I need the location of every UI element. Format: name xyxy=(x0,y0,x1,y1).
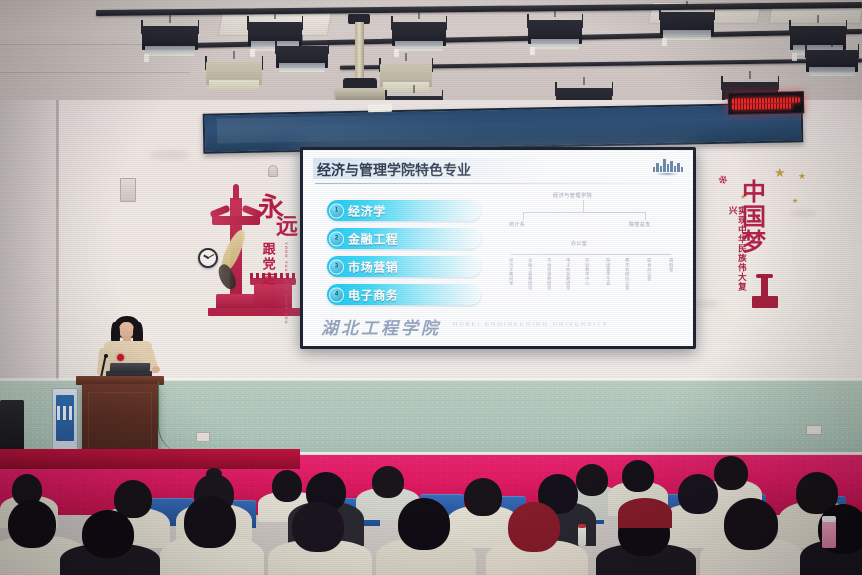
stage-light-7 xyxy=(206,58,262,90)
banner-sheen xyxy=(217,113,480,143)
presenter-badge xyxy=(117,354,124,361)
org-leaf-3: 市场营销教研室 xyxy=(547,258,552,290)
bullet-label-1: 经济学 xyxy=(348,202,386,219)
poster-bars-graphic xyxy=(57,406,72,420)
bullet-label-3: 市场营销 xyxy=(348,258,398,275)
projector-drop-pole xyxy=(355,22,364,80)
bullet-number-4: 4 xyxy=(329,287,344,302)
monument-finial xyxy=(233,184,239,200)
org-root-node: 经济与管理学院 xyxy=(553,192,592,199)
org-line-h2 xyxy=(511,254,671,255)
org-node-l2-1: 统计系 xyxy=(509,221,525,228)
wall-outlet-2[interactable] xyxy=(806,425,822,435)
slide-title: 经济与管理学院特色专业 xyxy=(317,160,471,180)
org-line-root-down xyxy=(583,200,584,212)
tower-shaft xyxy=(761,276,768,298)
org-leaf-6: 院团委学生会 xyxy=(606,258,611,286)
org-node-l2-2: 院党总支 xyxy=(629,221,651,228)
presenter-hand xyxy=(152,366,160,373)
org-leaf-8: 综合办公室 xyxy=(647,258,652,281)
stage-light-8 xyxy=(380,60,432,92)
laptop-screen xyxy=(110,363,151,373)
stage-light-3 xyxy=(392,18,446,51)
audience-head xyxy=(678,474,718,514)
stage-light-5 xyxy=(660,8,714,40)
wall-left-pillar xyxy=(0,100,58,400)
star-icon-4: ★ xyxy=(792,198,798,205)
gate-platform xyxy=(244,308,300,316)
slide-watermark-faint: HUBEI ENGINEERING UNIVERSITY xyxy=(453,322,609,328)
org-leaf-9: 资料室 xyxy=(669,258,674,272)
audience-head xyxy=(622,460,654,492)
org-leaf-5: 实验教学中心 xyxy=(585,258,590,286)
logo-wave xyxy=(654,173,680,176)
pink-tumbler[interactable] xyxy=(822,520,836,548)
slide-bullet-3: 3 市场营销 xyxy=(327,256,481,277)
wall-art-yongyuan-gendangzou: 永 远 跟党走 YONG YUAN GEN DANG ZOU xyxy=(200,176,308,332)
org-line-h1 xyxy=(523,212,645,213)
pink-tumbler-lid xyxy=(822,516,836,522)
org-line-l2b xyxy=(645,212,646,220)
projection-screen-frame: 经济与管理学院特色专业 1 经济学 2 金融工程 3 市场营销 xyxy=(300,147,696,349)
stage-light-1 xyxy=(142,22,198,56)
audience-head xyxy=(724,498,778,550)
bullet-number-2: 2 xyxy=(329,231,344,246)
slide-watermark-university: 湖北工程学院 xyxy=(321,314,441,339)
wall-art-headline-zhongguomeng: 中国梦 xyxy=(742,180,782,256)
bullet-label-4: 电子商务 xyxy=(348,286,398,303)
org-line-l2a xyxy=(523,212,524,220)
bullet-label-2: 金融工程 xyxy=(348,230,398,247)
tower-cap xyxy=(756,274,773,278)
star-icon-1: ★ xyxy=(774,166,786,179)
wall-mark-1 xyxy=(150,150,190,160)
bullet-number-3: 3 xyxy=(329,259,344,274)
projected-slide: 经济与管理学院特色专业 1 经济学 2 金融工程 3 市场营销 xyxy=(303,150,693,346)
student-audience xyxy=(0,440,862,575)
slide-title-underline xyxy=(315,183,681,184)
audience-head xyxy=(8,500,56,548)
dove-icon: ❄ xyxy=(716,173,729,188)
wall-art-zhongguomeng: ❄ ★ ★ ★ ★ 中国梦 实现中华民族伟大复兴 xyxy=(716,164,826,314)
org-leaf-7: 教学科研办公室 xyxy=(625,258,630,290)
org-node-l3-1: 办公室 xyxy=(571,240,587,247)
wall-art-line-gendangzou: 跟党走 xyxy=(261,242,275,287)
wall-art-subline: 实现中华民族伟大复兴 xyxy=(728,206,746,294)
slide-org-chart: 经济与管理学院 统计系 院党总支 办公室 经济学教研室 金融工程教研室 市场营销… xyxy=(501,192,691,322)
tower-graphic xyxy=(752,274,778,308)
audience-head xyxy=(714,456,748,490)
banner-tape-label xyxy=(368,104,392,112)
led-scrolling-sign xyxy=(728,91,804,114)
wall-pillar-edge xyxy=(56,100,59,400)
slide-bullet-2: 2 金融工程 xyxy=(327,228,481,249)
monument-crossbar xyxy=(212,216,260,225)
ceiling-seam-2 xyxy=(0,72,190,73)
stage-light-9 xyxy=(276,42,328,72)
audience-head xyxy=(508,502,560,552)
audience-head xyxy=(372,466,404,498)
bullet-number-1: 1 xyxy=(329,203,344,218)
bottle-cap xyxy=(578,524,586,528)
city-skyline-logo xyxy=(653,158,683,172)
monument-base xyxy=(216,294,256,308)
wall-control-box[interactable] xyxy=(120,178,136,202)
audience-head xyxy=(398,498,450,550)
org-leaf-1: 经济学教研室 xyxy=(509,258,514,286)
wall-art-char-yuan: 远 xyxy=(276,216,298,238)
lecture-hall-photo: 永 远 跟党走 YONG YUAN GEN DANG ZOU ❄ ★ ★ ★ ★… xyxy=(0,0,862,575)
led-text-line-2 xyxy=(732,103,792,109)
audience-head xyxy=(292,502,344,552)
org-leaf-2: 金融工程教研室 xyxy=(528,258,533,290)
slide-bullet-4: 4 电子商务 xyxy=(327,284,481,305)
audience-head xyxy=(82,510,134,558)
slide-bullet-1: 1 经济学 xyxy=(327,200,481,221)
audience-head xyxy=(184,496,236,548)
stage-light-4 xyxy=(528,16,582,49)
red-cap-student xyxy=(618,498,672,528)
water-bottle[interactable] xyxy=(578,526,586,546)
audience-head xyxy=(272,470,302,502)
stage-light-13 xyxy=(806,46,858,76)
led-text-line-1 xyxy=(732,97,800,103)
org-leaf-4: 电子商务教研室 xyxy=(566,258,571,290)
microphone-head xyxy=(104,354,108,358)
star-icon-2: ★ xyxy=(798,172,806,181)
audience-hair-bun xyxy=(206,468,222,480)
audience-head xyxy=(464,478,502,516)
audience-head xyxy=(576,464,608,496)
wall-art-pinyin: YONG YUAN GEN DANG ZOU xyxy=(284,242,289,325)
